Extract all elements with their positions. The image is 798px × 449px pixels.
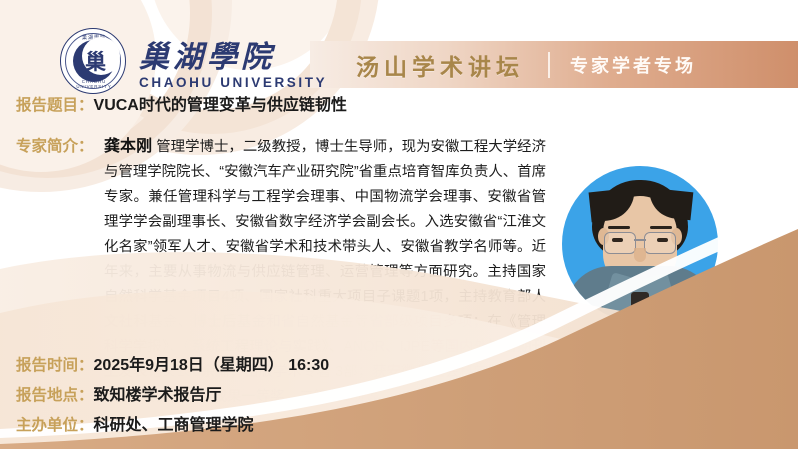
speaker-bio-label: 专家简介： [16, 134, 94, 159]
chaohu-university-crest-icon: 巢湖學院 巢 CHAOHU UNIVERSITY [60, 28, 126, 94]
report-title-row: 报告题目：VUCA时代的管理变革与供应链韧性 [16, 96, 347, 116]
banner-subtitle: 专家学者专场 [570, 52, 696, 78]
organizer-label: 主办单位： [16, 417, 94, 434]
speaker-name: 龚本刚 [104, 138, 152, 155]
crest-glyph: 巢 [85, 51, 106, 72]
university-name-cn: 巢湖學院 [139, 42, 327, 74]
report-place-row: 报告地点：致知楼学术报告厅 [16, 386, 222, 406]
crest-arc-bottom-text: CHAOHU UNIVERSITY [67, 79, 121, 89]
forum-banner: 汤山学术讲坛 专家学者专场 [310, 41, 798, 88]
banner-separator [548, 52, 550, 78]
report-time-value: 2025年9月18日（星期四） 16:30 [94, 357, 330, 374]
report-title-value: VUCA时代的管理变革与供应链韧性 [94, 97, 347, 114]
organizer-row: 主办单位：科研处、工商管理学院 [16, 416, 254, 436]
university-logo: 巢湖學院 巢 CHAOHU UNIVERSITY 巢湖學院 CHAOHU UNI… [60, 28, 327, 94]
report-time-label: 报告时间： [16, 357, 94, 374]
banner-title: 汤山学术讲坛 [356, 48, 524, 82]
report-title-label: 报告题目： [16, 97, 94, 114]
report-place-value: 致知楼学术报告厅 [94, 387, 222, 404]
report-time-row: 报告时间：2025年9月18日（星期四） 16:30 [16, 356, 329, 376]
university-name-en: CHAOHU UNIVERSITY [139, 75, 327, 91]
organizer-value: 科研处、工商管理学院 [94, 417, 254, 434]
report-place-label: 报告地点： [16, 387, 94, 404]
poster-root: 汤山学术讲坛 专家学者专场 巢湖學院 巢 CHAOHU UNIVERSITY 巢… [0, 0, 798, 449]
